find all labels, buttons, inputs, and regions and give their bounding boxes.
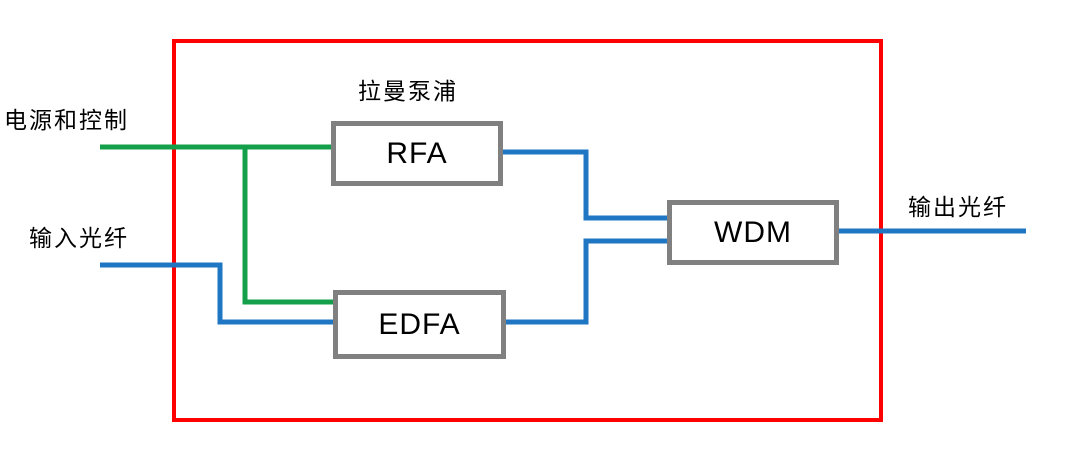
- label-input-fiber: 输入光纤: [29, 228, 129, 251]
- wire-input-to-edfa: [100, 265, 334, 322]
- wire-power-to-edfa: [245, 147, 334, 302]
- block-wdm[interactable]: WDM: [667, 200, 839, 265]
- block-wdm-label: WDM: [714, 218, 792, 248]
- wire-edfa-to-wdm: [505, 241, 668, 322]
- wire-rfa-to-wdm: [503, 152, 668, 218]
- wiring-layer: [0, 0, 1074, 456]
- block-edfa[interactable]: EDFA: [333, 290, 506, 359]
- label-raman-pump: 拉曼泵浦: [358, 81, 458, 104]
- label-output-fiber: 输出光纤: [908, 197, 1008, 220]
- block-rfa-label: RFA: [386, 139, 447, 169]
- block-edfa-label: EDFA: [378, 310, 460, 340]
- block-rfa[interactable]: RFA: [331, 121, 503, 186]
- diagram-canvas: RFA EDFA WDM 电源和控制 输入光纤 拉曼泵浦 输出光纤: [0, 0, 1074, 456]
- label-power-control: 电源和控制: [4, 110, 129, 133]
